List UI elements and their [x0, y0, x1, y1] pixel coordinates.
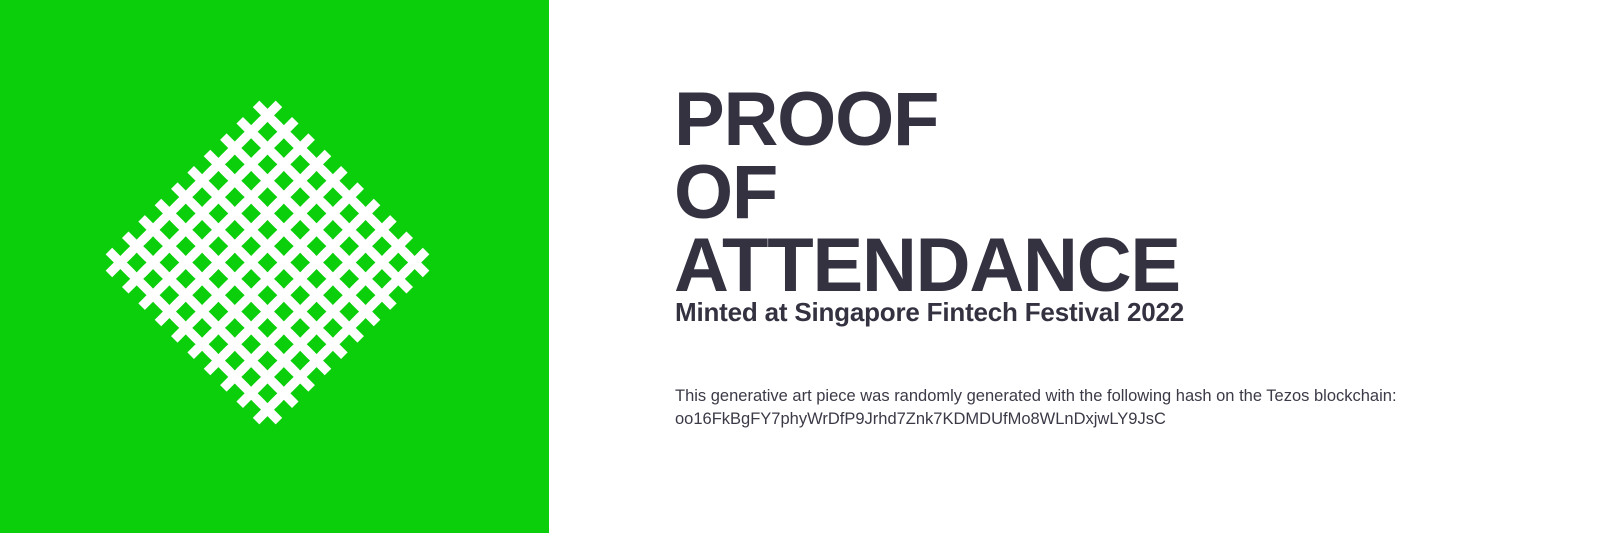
info-panel: PROOF OF ATTENDANCE Minted at Singapore … — [549, 0, 1600, 533]
event-subtitle: Minted at Singapore Fintech Festival 202… — [675, 297, 1184, 328]
art-panel — [0, 0, 549, 533]
hash-description: This generative art piece was randomly g… — [675, 385, 1575, 408]
page-title: PROOF OF ATTENDANCE — [674, 84, 1494, 303]
generative-maze-art — [104, 99, 431, 426]
proof-of-attendance-card: PROOF OF ATTENDANCE Minted at Singapore … — [0, 0, 1600, 533]
transaction-hash: oo16FkBgFY7phyWrDfP9Jrhd7Znk7KDMDUfMo8WL… — [675, 408, 1575, 431]
title-line-3: ATTENDANCE — [674, 230, 1494, 303]
hash-block: This generative art piece was randomly g… — [675, 385, 1575, 432]
title-line-2: OF — [674, 157, 1494, 230]
title-line-1: PROOF — [674, 84, 1494, 157]
